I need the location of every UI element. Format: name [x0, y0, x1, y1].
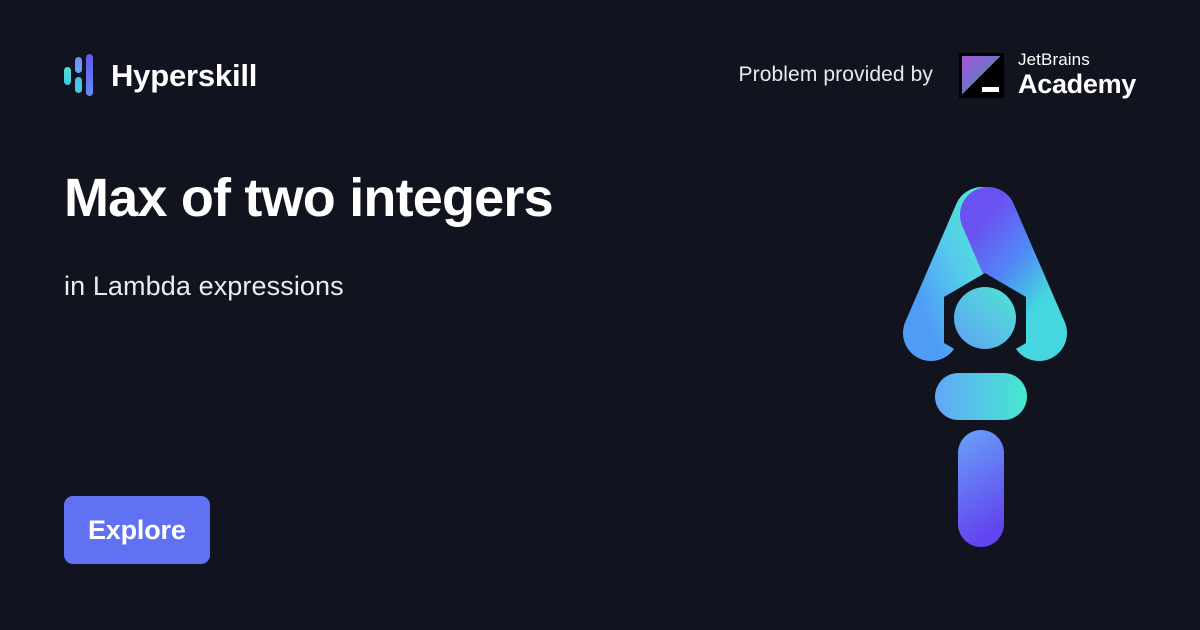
hyperskill-bar-1: [64, 67, 71, 85]
card-header: Hyperskill Problem provided by JetBrains…: [0, 0, 1200, 150]
jetbrains-top-line: JetBrains: [1018, 51, 1136, 69]
jetbrains-dash-icon: [982, 87, 999, 92]
torch-triangle: [931, 215, 1039, 367]
hyperskill-bar-2: [75, 57, 82, 73]
jetbrains-wordmark: JetBrains Academy: [1018, 51, 1136, 98]
jetbrains-bottom-line: Academy: [1018, 70, 1136, 98]
provided-by-label: Problem provided by: [739, 63, 934, 87]
hyperskill-brand-name: Hyperskill: [111, 60, 257, 91]
hyperskill-bar-4: [86, 54, 93, 96]
provider-block: Problem provided by JetBrains Academy: [739, 48, 1136, 102]
hyperskill-torch-icon: [900, 180, 1070, 560]
card-content: Max of two integers in Lambda expression…: [64, 168, 764, 305]
jetbrains-square-icon: [959, 53, 1004, 98]
explore-button[interactable]: Explore: [64, 496, 210, 564]
page-title: Max of two integers: [64, 168, 764, 228]
page-subtitle: in Lambda expressions: [64, 269, 764, 304]
jetbrains-academy-logo[interactable]: JetBrains Academy: [959, 51, 1136, 98]
hyperskill-bar-3: [75, 77, 82, 93]
torch-vertical-bar: [958, 430, 1004, 547]
torch-horizontal-bar: [935, 373, 1027, 420]
hyperskill-bars-icon: [64, 54, 94, 96]
hyperskill-brand[interactable]: Hyperskill: [64, 51, 257, 99]
problem-card: Hyperskill Problem provided by JetBrains…: [0, 0, 1200, 630]
